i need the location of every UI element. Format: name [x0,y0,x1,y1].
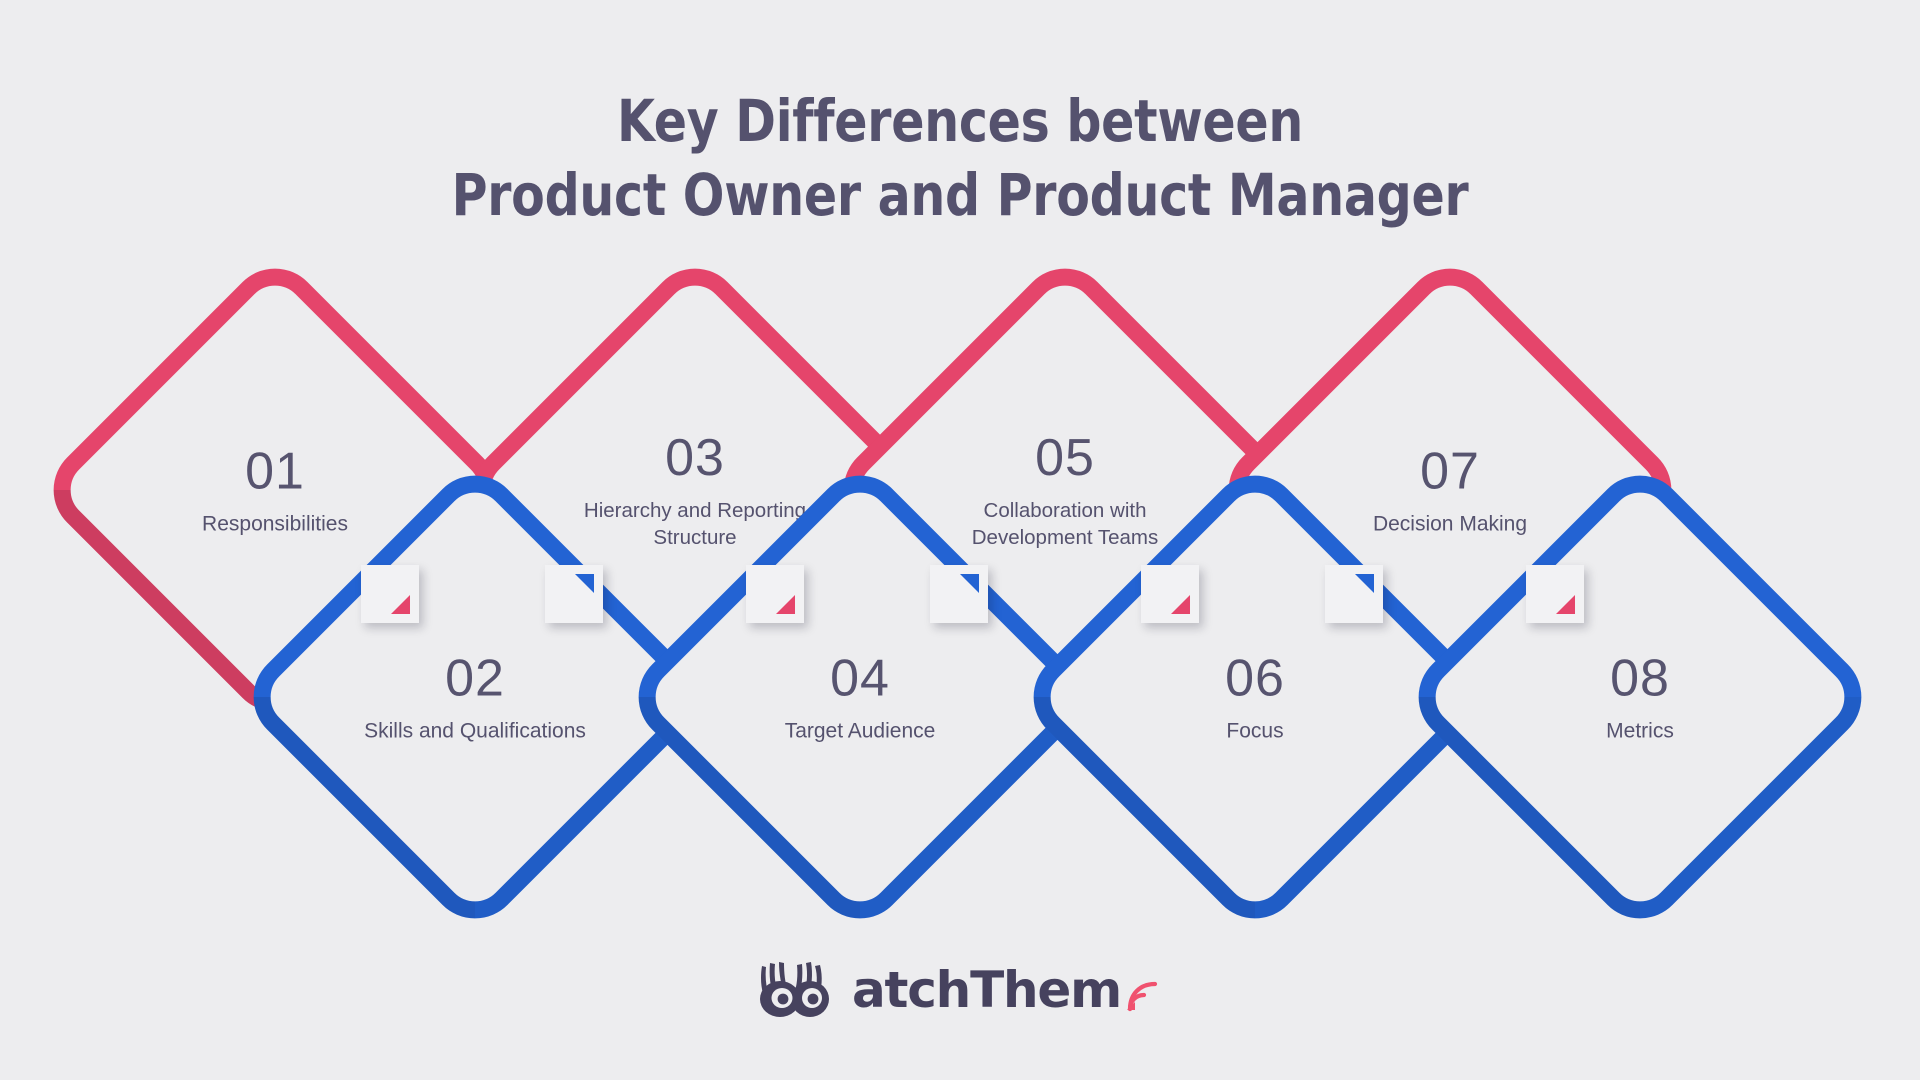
fold-triangle-blue-icon [575,574,594,593]
fold-corner-07 [1526,565,1584,623]
diamond-number: 05 [940,429,1190,487]
fold-triangle-pink-icon [391,595,410,614]
diamond-number: 07 [1334,443,1566,501]
logo-wordmark: atchThem [852,965,1121,1015]
fold-triangle-blue-icon [960,574,979,593]
infographic-canvas: Key Differences between Product Owner an… [0,0,1920,1080]
diamond-label: Target Audience [744,718,976,745]
diamond-number: 02 [359,650,591,708]
fold-corner-06 [1325,565,1383,623]
fold-corner-01 [361,565,419,623]
diamond-number: 04 [744,650,976,708]
diamond-content: 08 Metrics [1524,650,1756,745]
diamond-content: 02 Skills and Qualifications [359,650,591,745]
diamond-content: 01 Responsibilities [159,443,391,538]
watchthem-logo[interactable]: atchThem [758,962,1162,1020]
diamond-card-08[interactable]: 08 Metrics [1470,527,1810,867]
fold-corner-05 [1141,565,1199,623]
diamond-label: Skills and Qualifications [359,718,591,745]
diamond-number: 08 [1524,650,1756,708]
diamond-grid: 01 Responsibilities 03 Hierarchy and Rep… [0,0,1920,1080]
fold-triangle-blue-icon [1355,574,1374,593]
diamond-number: 03 [570,429,820,487]
diamond-number: 01 [159,443,391,501]
fold-corner-02 [545,565,603,623]
double-eye-icon [758,962,854,1020]
diamond-label: Metrics [1524,718,1756,745]
fold-triangle-pink-icon [1171,595,1190,614]
diamond-label: Focus [1139,718,1371,745]
diamond-number: 06 [1139,650,1371,708]
fold-triangle-pink-icon [1556,595,1575,614]
fold-corner-04 [930,565,988,623]
signal-waves-icon [1126,979,1162,1015]
diamond-content: 06 Focus [1139,650,1371,745]
fold-corner-03 [746,565,804,623]
fold-triangle-pink-icon [776,595,795,614]
diamond-content: 04 Target Audience [744,650,976,745]
diamond-content: 07 Decision Making [1334,443,1566,538]
